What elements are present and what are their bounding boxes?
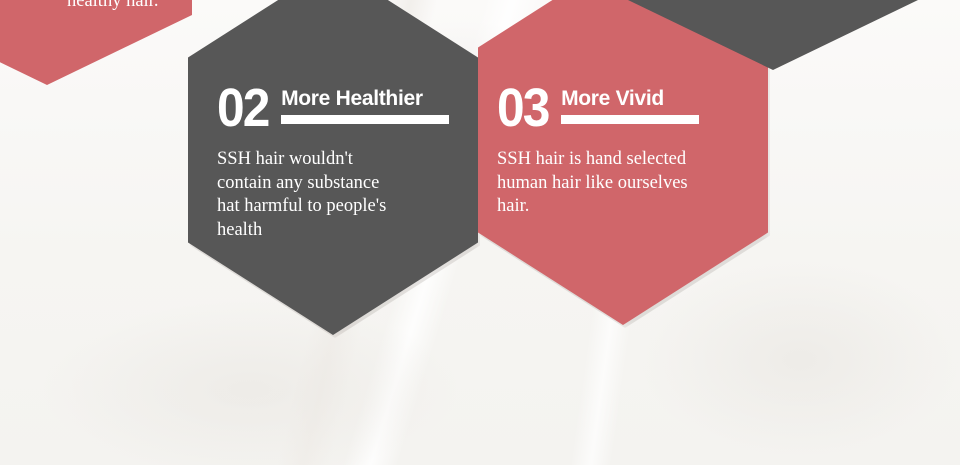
card-03-header: 03 More Vivid — [497, 82, 759, 134]
card-03-number: 03 — [497, 82, 549, 134]
card-02-title-rule — [281, 115, 449, 124]
card-02-description: SSH hair wouldn't contain any substance … — [217, 148, 465, 242]
card-03-content: 03 More Vivid SSH hair is hand selected … — [497, 82, 759, 219]
background-blotch-3 — [640, 260, 960, 460]
card-01-partial-text: healthy hair. — [67, 0, 158, 14]
card-03-title-rule — [561, 115, 699, 124]
card-02-desc-line: contain any substance — [217, 172, 465, 196]
card-03-desc-line: human hair like ourselves — [497, 172, 759, 196]
card-02-header: 02 More Healthier — [217, 82, 465, 134]
card-02-desc-line: hat harmful to people's — [217, 195, 465, 219]
card-02-number: 02 — [217, 82, 269, 134]
card-03-desc-line: SSH hair is hand selected — [497, 148, 759, 172]
card-03-desc-line: hair. — [497, 195, 759, 219]
card-02-title: More Healthier — [281, 87, 449, 110]
card-02-desc-line: SSH hair wouldn't — [217, 148, 465, 172]
card-03-title: More Vivid — [561, 87, 699, 110]
card-02-content: 02 More Healthier SSH hair wouldn't cont… — [217, 82, 465, 242]
card-03-description: SSH hair is hand selected human hair lik… — [497, 148, 759, 219]
background-blotch-2 — [40, 300, 460, 465]
card-02-title-block: More Healthier — [281, 82, 449, 124]
card-02-desc-line: health — [217, 219, 465, 243]
infographic-canvas: healthy hair. 02 More Healthier SSH hair… — [0, 0, 960, 465]
card-03-title-block: More Vivid — [561, 82, 699, 124]
